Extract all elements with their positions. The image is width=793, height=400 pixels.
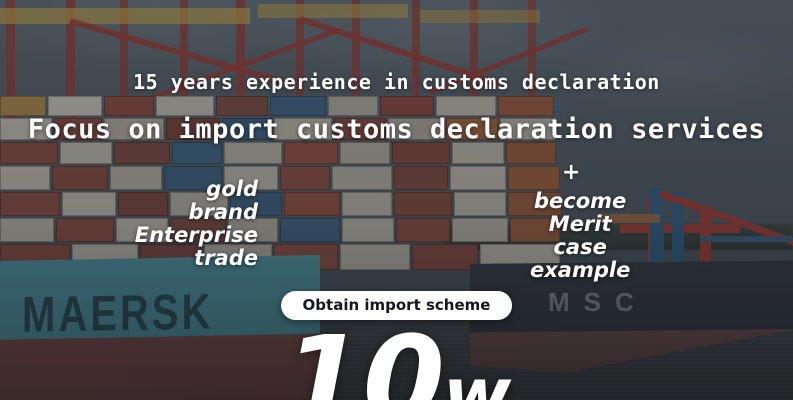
left-benefit-line-1: gold <box>135 178 258 201</box>
right-benefit-line-4: example <box>530 259 630 282</box>
stat-unit: w <box>443 352 510 400</box>
stat-number: 10 <box>283 310 443 400</box>
left-benefit-line-2: brand <box>135 201 258 224</box>
right-benefit-line-2: Merit <box>530 213 630 236</box>
obtain-import-scheme-button[interactable]: Obtain import scheme <box>281 291 513 320</box>
left-benefit-line-4: trade <box>135 247 258 270</box>
headline-primary: 15 years experience in customs declarati… <box>0 70 793 94</box>
left-benefit-block: gold brand Enterprise trade <box>135 178 258 270</box>
stat-row: gold brand Enterprise trade 10w become M… <box>0 166 793 270</box>
promo-banner: MAERSK MSC 15 years experience in custom… <box>0 0 793 400</box>
plus-sign: + <box>562 160 580 185</box>
left-benefit-line-3: Enterprise <box>135 224 258 247</box>
right-benefit-block: become Merit case example <box>530 190 630 282</box>
right-benefit-line-1: become <box>530 190 630 213</box>
banner-content: 15 years experience in customs declarati… <box>0 0 793 400</box>
headline-secondary: Focus on import customs declaration serv… <box>0 114 793 145</box>
stat-number-display: 10w <box>0 324 793 400</box>
right-benefit-line-3: case <box>530 236 630 259</box>
